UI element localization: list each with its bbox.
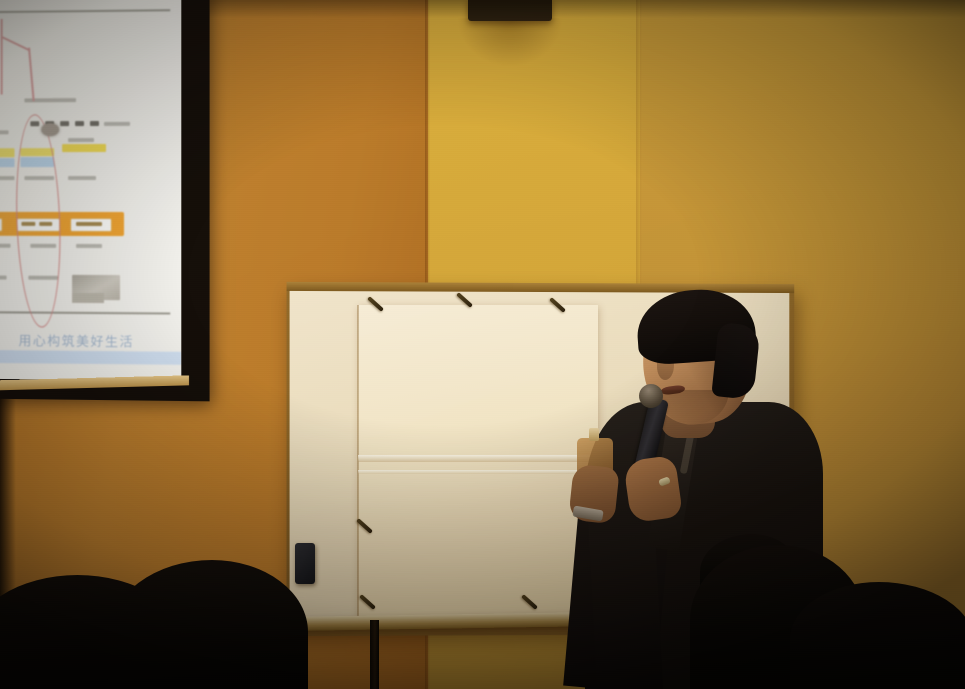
- presenter-hair-side: [711, 322, 761, 400]
- slide-footer-bar: [0, 350, 181, 365]
- slide-text-line: [0, 130, 9, 134]
- slide-chip-text: [76, 222, 102, 226]
- slide-rule-bottom: [0, 311, 170, 314]
- slide-text-line: [0, 275, 7, 279]
- slide-node-marker: [41, 123, 59, 136]
- slide-highlight-yellow-a: [0, 148, 15, 157]
- flipchart-fold-crease: [358, 455, 598, 462]
- ceiling-speaker-icon: [468, 0, 552, 21]
- slide-header-cell: [60, 121, 69, 126]
- projection-screen: 用心构筑美好生活: [0, 0, 210, 401]
- slide-footer-text: 用心构筑美好生活: [18, 330, 134, 350]
- slide-image-placeholder-small: [72, 293, 104, 303]
- slide-annotation-stem-line: [28, 48, 34, 102]
- projection-screen-surface: 用心构筑美好生活: [0, 0, 181, 381]
- slide-text-line: [0, 244, 11, 248]
- slide-text-line: [76, 244, 102, 248]
- slide-text-line: [104, 122, 130, 126]
- slide-annotation-vertical-line: [1, 19, 3, 95]
- board-eraser: [295, 543, 315, 584]
- photo-scene: 用心构筑美好生活: [0, 0, 965, 689]
- slide-header-cell: [75, 121, 84, 126]
- slide-highlight-yellow-right: [62, 144, 106, 152]
- slide-annotation-ellipse: [13, 113, 64, 328]
- held-cup-tab: [589, 428, 599, 441]
- flipchart-paper: [358, 305, 598, 619]
- slide-rule-top: [0, 9, 170, 12]
- presentation-slide: 用心构筑美好生活: [0, 0, 181, 381]
- whiteboard-stand: [370, 620, 379, 689]
- slide-highlight-blue-a: [0, 158, 15, 167]
- slide-text-line: [68, 176, 96, 180]
- slide-header-cell: [90, 121, 99, 126]
- ceiling-speaker-shadow: [458, 18, 562, 66]
- flipchart-left-edge: [357, 305, 359, 619]
- slide-chip: [0, 218, 3, 232]
- presenter-hand-holding-microphone: [623, 455, 683, 524]
- flipchart-fold-crease-secondary: [358, 470, 598, 474]
- slide-annotation-diagonal-line: [1, 36, 30, 51]
- slide-text-line: [68, 138, 94, 142]
- audience-head: [790, 582, 965, 689]
- slide-text-line: [0, 176, 15, 180]
